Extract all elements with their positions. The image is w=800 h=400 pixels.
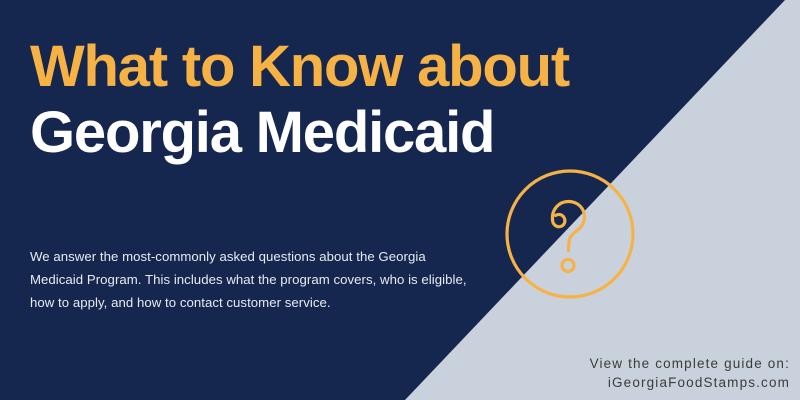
page-title-line-two: Georgia Medicaid [30, 100, 590, 166]
attribution-footer: View the complete guide on: iGeorgiaFood… [590, 354, 790, 392]
question-mark-dot [562, 260, 574, 272]
page-title: What to Know about Georgia Medicaid [30, 34, 590, 166]
badge-ring [507, 171, 633, 297]
question-mark-circle-icon [504, 168, 636, 300]
promo-banner: What to Know about Georgia Medicaid We a… [0, 0, 800, 400]
page-title-line-one: What to Know about [30, 34, 590, 100]
footer-prompt: View the complete guide on: [590, 354, 790, 373]
footer-website[interactable]: iGeorgiaFoodStamps.com [590, 373, 790, 392]
description-paragraph: We answer the most-commonly asked questi… [30, 245, 480, 314]
question-mark-spiral [553, 214, 565, 226]
